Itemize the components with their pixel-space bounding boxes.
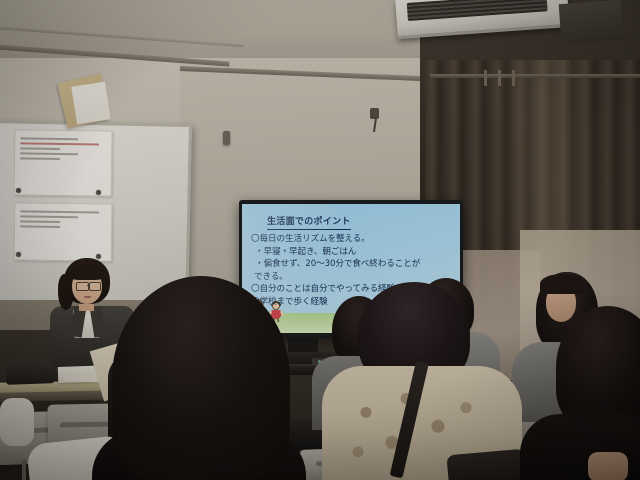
audience-right-fringe [540, 274, 584, 294]
poster-line [20, 147, 60, 150]
dark-bag-on-table [6, 361, 55, 385]
presenter-handout [71, 82, 111, 125]
poster-line [20, 152, 78, 155]
poster-line [20, 210, 99, 213]
presentation-room-photo: 生活面でのポイント 〇毎日の生活リズムを整える。 ・早寝・早起き、朝ごはん ・偏… [0, 0, 640, 480]
wall-switch-plate[interactable] [223, 131, 230, 145]
slide-line-1: 〇毎日の生活リズムを整える。 [251, 234, 454, 245]
audience-long-hair-center [112, 276, 290, 480]
poster-line [20, 215, 78, 218]
curtain-hook-icon [484, 70, 487, 86]
poster-line [20, 142, 99, 145]
curtain-hook-icon [512, 70, 515, 86]
eyeglasses-icon [76, 282, 89, 291]
slide-line-2: ・早寝・早起き、朝ごはん [251, 247, 454, 258]
chair-leg [22, 460, 26, 480]
eyeglasses-bridge [87, 285, 90, 286]
poster-line [20, 137, 78, 140]
presenter-mouth [84, 296, 91, 298]
notice-poster-upper [14, 129, 113, 196]
slide-title: 生活面でのポイント [267, 218, 351, 230]
slide-line-3: ・偏食せず、20〜30分で食べ終わることが [251, 259, 454, 270]
magnet-icon [96, 190, 101, 195]
presenter-fringe [68, 266, 106, 280]
magnet-icon [16, 188, 21, 193]
audience-left-sleeve [0, 398, 34, 446]
ceiling-shadow [559, 0, 624, 44]
magnet-icon [16, 252, 21, 257]
notice-poster-lower [14, 202, 113, 261]
shoulder-bag [446, 449, 527, 480]
audience-foreground-right-neck [588, 452, 628, 480]
curtain-hook-icon [498, 70, 501, 86]
curtain-rod [430, 74, 640, 78]
poster-line [20, 225, 60, 228]
eyeglasses-icon [89, 282, 101, 291]
poster-line [20, 157, 60, 160]
slide-line-4: できる。 [251, 272, 454, 283]
poster-line [20, 220, 60, 223]
